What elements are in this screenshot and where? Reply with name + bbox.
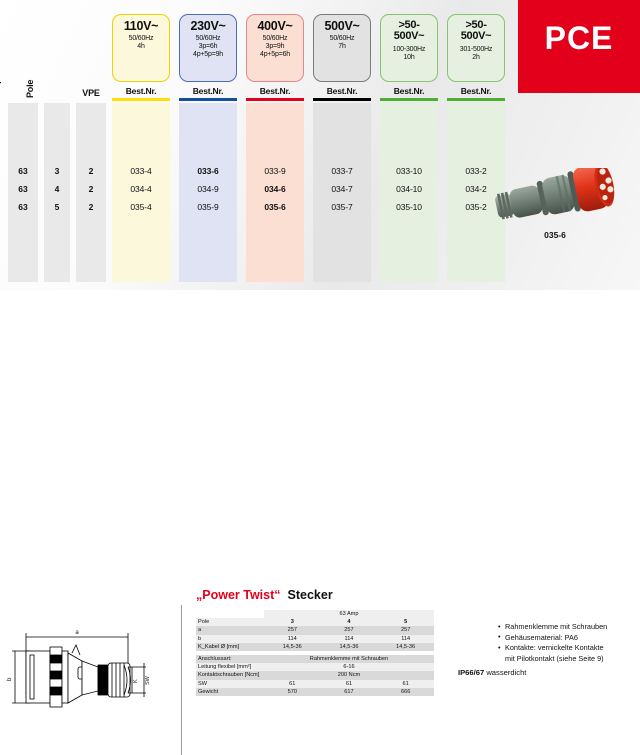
plug-photo-svg (490, 168, 620, 226)
spec-table-row: Pole345 (196, 618, 434, 626)
voltage-label-3: 400V~ (247, 21, 303, 32)
spec-row-value: Rahmenklemme mit Schrauben (264, 655, 434, 663)
voltage-label-5: >50- 500V~ (381, 20, 437, 42)
feature-item: Kontakte: vernickelte Kontakte (498, 643, 640, 653)
voltage-header-box-3: 400V~50/60Hz 3p=9h 4p+5p=6h (246, 14, 304, 82)
spec-row-value: 257 (321, 626, 378, 634)
spec-table-row: K_Kabel Ø [mm]14,5-3614,5-3614,5-36 (196, 643, 434, 651)
spec-row-value: 61 (264, 680, 321, 688)
order-number-cell[interactable]: 033-10 (380, 166, 438, 176)
spec-table-row: a257257257 (196, 626, 434, 634)
spec-table: 63 AmpPole345a257257257b114114114K_Kabel… (196, 610, 434, 696)
spec-table-row: b114114114 (196, 635, 434, 643)
voltage-header-box-6: >50- 500V~301-500Hz 2h (447, 14, 505, 82)
spec-table-header-row: 63 Amp (196, 610, 434, 618)
cell-vpe-1: 2 (76, 166, 106, 176)
spec-table-row: Gewicht570617666 (196, 688, 434, 696)
spec-row-label: Anschlussart: (196, 655, 264, 663)
vertical-separator (181, 605, 182, 755)
ip-rating-text: wasserdicht (486, 668, 526, 677)
section-title-quoted: „Power Twist“ (196, 588, 281, 602)
order-number-cell[interactable]: 035-10 (380, 202, 438, 212)
frequency-label-4: 50/60Hz 7h (314, 35, 370, 51)
product-photo-caption: 035-6 (490, 230, 620, 240)
spec-row-value: 617 (321, 688, 378, 696)
voltage-header-box-2: 230V~50/60Hz 3p=6h 4p+5p=9h (179, 14, 237, 82)
spec-row-value: 114 (264, 635, 321, 643)
spec-table-row: SW616161 (196, 680, 434, 688)
feature-list: Rahmenklemme mit SchraubenGehäusemateria… (458, 622, 640, 664)
cell-ampere-2: 63 (8, 184, 38, 194)
order-number-cell[interactable]: 034-7 (313, 184, 371, 194)
spec-row-value: 5 (377, 618, 434, 626)
order-number-header-1: Best.Nr. (112, 86, 170, 96)
voltage-label-2: 230V~ (180, 21, 236, 32)
spec-row-value: 14,5-36 (321, 643, 378, 651)
spec-row-label: Leitung flexibel [mm²] (196, 663, 264, 671)
cell-vpe-3: 2 (76, 202, 106, 212)
section-title-rest: Stecker (288, 588, 333, 602)
color-bar-6 (447, 98, 505, 101)
feature-item: Rahmenklemme mit Schrauben (498, 622, 640, 632)
spec-row-label: a (196, 626, 264, 634)
order-number-cell[interactable]: 035-4 (112, 202, 170, 212)
spec-row-value: 6-16 (264, 663, 434, 671)
spec-row-value: 257 (264, 626, 321, 634)
spec-table-row: Leitung flexibel [mm²]6-16 (196, 663, 434, 671)
drawing-label-a: a (75, 630, 79, 636)
column-header-ampere: Ampere (0, 66, 27, 98)
spec-table-row: Kontaktschrauben [Ncm]200 Ncm (196, 671, 434, 679)
frequency-label-5: 100-300Hz 10h (381, 46, 437, 62)
spec-row-label: Kontaktschrauben [Ncm] (196, 671, 264, 679)
spec-row-label: b (196, 635, 264, 643)
voltage-header-box-4: 500V~50/60Hz 7h (313, 14, 371, 82)
voltage-label-4: 500V~ (314, 21, 370, 32)
order-number-cell[interactable]: 034-6 (246, 184, 304, 194)
order-number-header-4: Best.Nr. (313, 86, 371, 96)
spec-row-value: 61 (377, 680, 434, 688)
spec-row-value: 570 (264, 688, 321, 696)
cell-ampere-1: 63 (8, 166, 38, 176)
cell-pole-2: 4 (44, 184, 70, 194)
spec-row-value: 3 (264, 618, 321, 626)
pce-logo: PCE (518, 0, 640, 93)
order-number-header-6: Best.Nr. (447, 86, 505, 96)
frequency-label-1: 50/60Hz 4h (113, 35, 169, 51)
voltage-label-6: >50- 500V~ (448, 20, 504, 42)
voltage-header-box-5: >50- 500V~100-300Hz 10h (380, 14, 438, 82)
section-title: „Power Twist“Stecker (196, 588, 333, 602)
color-bar-1 (112, 98, 170, 101)
spec-row-value: 14,5-36 (377, 643, 434, 651)
cell-pole-3: 5 (44, 202, 70, 212)
frequency-label-3: 50/60Hz 3p=9h 4p+5p=6h (247, 35, 303, 60)
spec-row-label: K_Kabel Ø [mm] (196, 643, 264, 651)
voltage-label-1: 110V~ (113, 21, 169, 32)
spec-row-value: 666 (377, 688, 434, 696)
spec-row-value: 4 (321, 618, 378, 626)
drawing-label-k: K (133, 679, 139, 683)
spec-row-value: 14,5-36 (264, 643, 321, 651)
cell-vpe-2: 2 (76, 184, 106, 194)
order-number-cell[interactable]: 035-9 (179, 202, 237, 212)
order-number-cell[interactable]: 034-10 (380, 184, 438, 194)
catalog-panel: PCE Ampere636363Pole345VPE222 110V~50/60… (0, 0, 640, 290)
order-number-cell[interactable]: 034-9 (179, 184, 237, 194)
color-bar-4 (313, 98, 371, 101)
ip-rating-value: IP66/67 (458, 668, 484, 677)
drawing-label-sw: SW (145, 675, 151, 685)
product-photo (490, 168, 620, 226)
spec-header-spacer (196, 610, 264, 618)
frequency-label-2: 50/60Hz 3p=6h 4p+5p=9h (180, 35, 236, 60)
order-number-cell[interactable]: 035-7 (313, 202, 371, 212)
pce-logo-text: PCE (518, 20, 640, 57)
spec-row-label: SW (196, 680, 264, 688)
spec-row-value: 200 Ncm (264, 671, 434, 679)
cell-ampere-3: 63 (8, 202, 38, 212)
technical-drawing: a b K SW (6, 615, 176, 730)
order-number-cell[interactable]: 033-9 (246, 166, 304, 176)
drawing-label-b: b (7, 677, 13, 681)
ip-rating-line: IP66/67 wasserdicht (458, 668, 526, 677)
column-header-vpe: VPE (76, 88, 106, 98)
spec-row-value: 257 (377, 626, 434, 634)
spec-row-value: 61 (321, 680, 378, 688)
column-header-pole: Pole (25, 80, 61, 98)
order-number-cell[interactable]: 033-7 (313, 166, 371, 176)
spec-amp-group: 63 Amp (264, 610, 434, 618)
order-number-cell[interactable]: 035-6 (246, 202, 304, 212)
color-bar-2 (179, 98, 237, 101)
voltage-header-box-1: 110V~50/60Hz 4h (112, 14, 170, 82)
order-number-cell[interactable]: 033-6 (179, 166, 237, 176)
spec-table-row: Anschlussart:Rahmenklemme mit Schrauben (196, 655, 434, 663)
order-number-header-3: Best.Nr. (246, 86, 304, 96)
frequency-label-6: 301-500Hz 2h (448, 46, 504, 62)
spec-row-value: 114 (321, 635, 378, 643)
cell-pole-1: 3 (44, 166, 70, 176)
bottom-panel: „Power Twist“Stecker 63 AmpPole345a25725… (0, 290, 640, 480)
spec-row-value: 114 (377, 635, 434, 643)
feature-item: mit Pilotkontakt (siehe Seite 9) (498, 654, 640, 664)
color-bar-3 (246, 98, 304, 101)
order-number-header-2: Best.Nr. (179, 86, 237, 96)
spec-row-label: Gewicht (196, 688, 264, 696)
order-number-cell[interactable]: 033-4 (112, 166, 170, 176)
spec-row-label: Pole (196, 618, 264, 626)
order-number-header-5: Best.Nr. (380, 86, 438, 96)
color-bar-5 (380, 98, 438, 101)
feature-item: Gehäusematerial: PA6 (498, 633, 640, 643)
order-number-cell[interactable]: 034-4 (112, 184, 170, 194)
technical-drawing-svg: a b K SW (6, 615, 176, 725)
